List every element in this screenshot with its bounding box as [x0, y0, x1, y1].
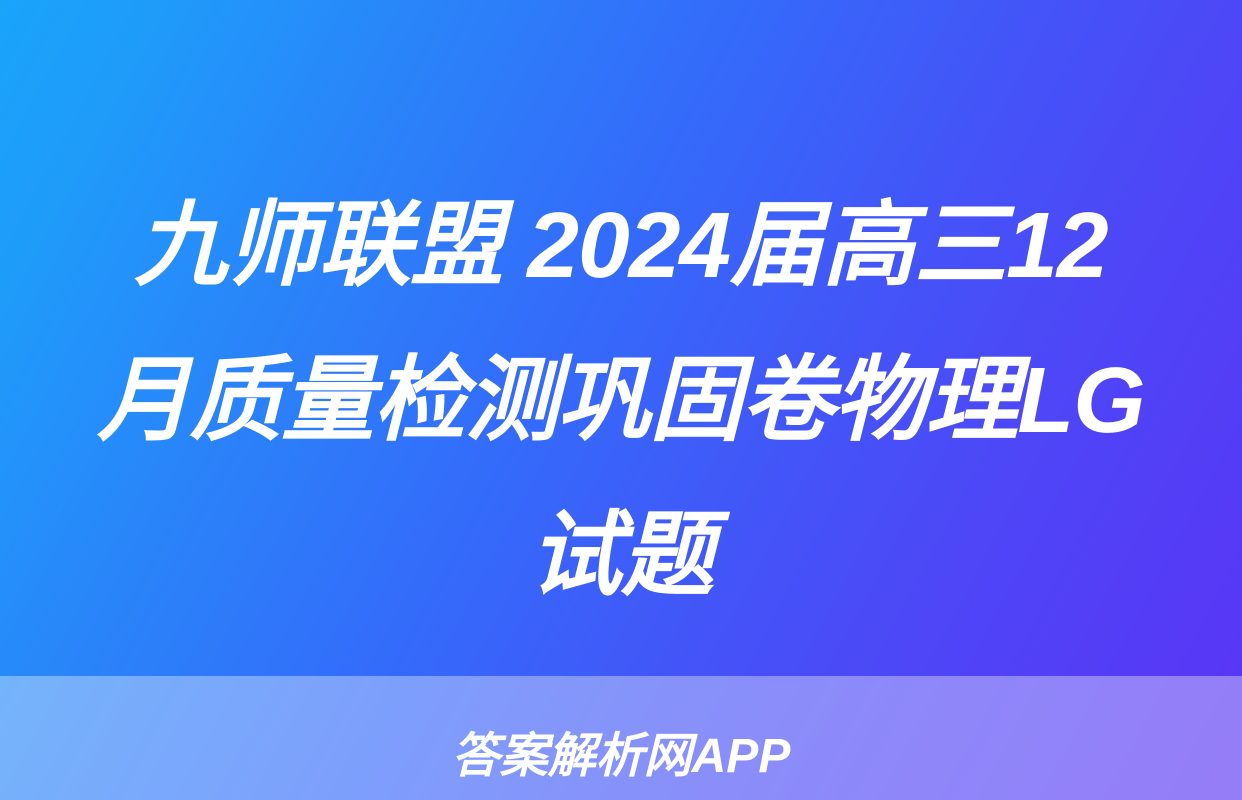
poster-cover: 九师联盟 2024届高三12 月质量检测巩固卷物理LG 试题 答案解析网APP	[0, 0, 1242, 800]
page-title: 九师联盟 2024届高三12 月质量检测巩固卷物理LG 试题	[0, 168, 1242, 633]
title-line-2: 月质量检测巩固卷物理LG	[40, 323, 1202, 478]
watermark-label: 答案解析网APP	[452, 731, 791, 783]
title-line-1: 九师联盟 2024届高三12	[40, 168, 1202, 323]
footer-watermark-band: 答案解析网APP	[0, 676, 1242, 800]
title-line-3: 试题	[40, 478, 1202, 633]
